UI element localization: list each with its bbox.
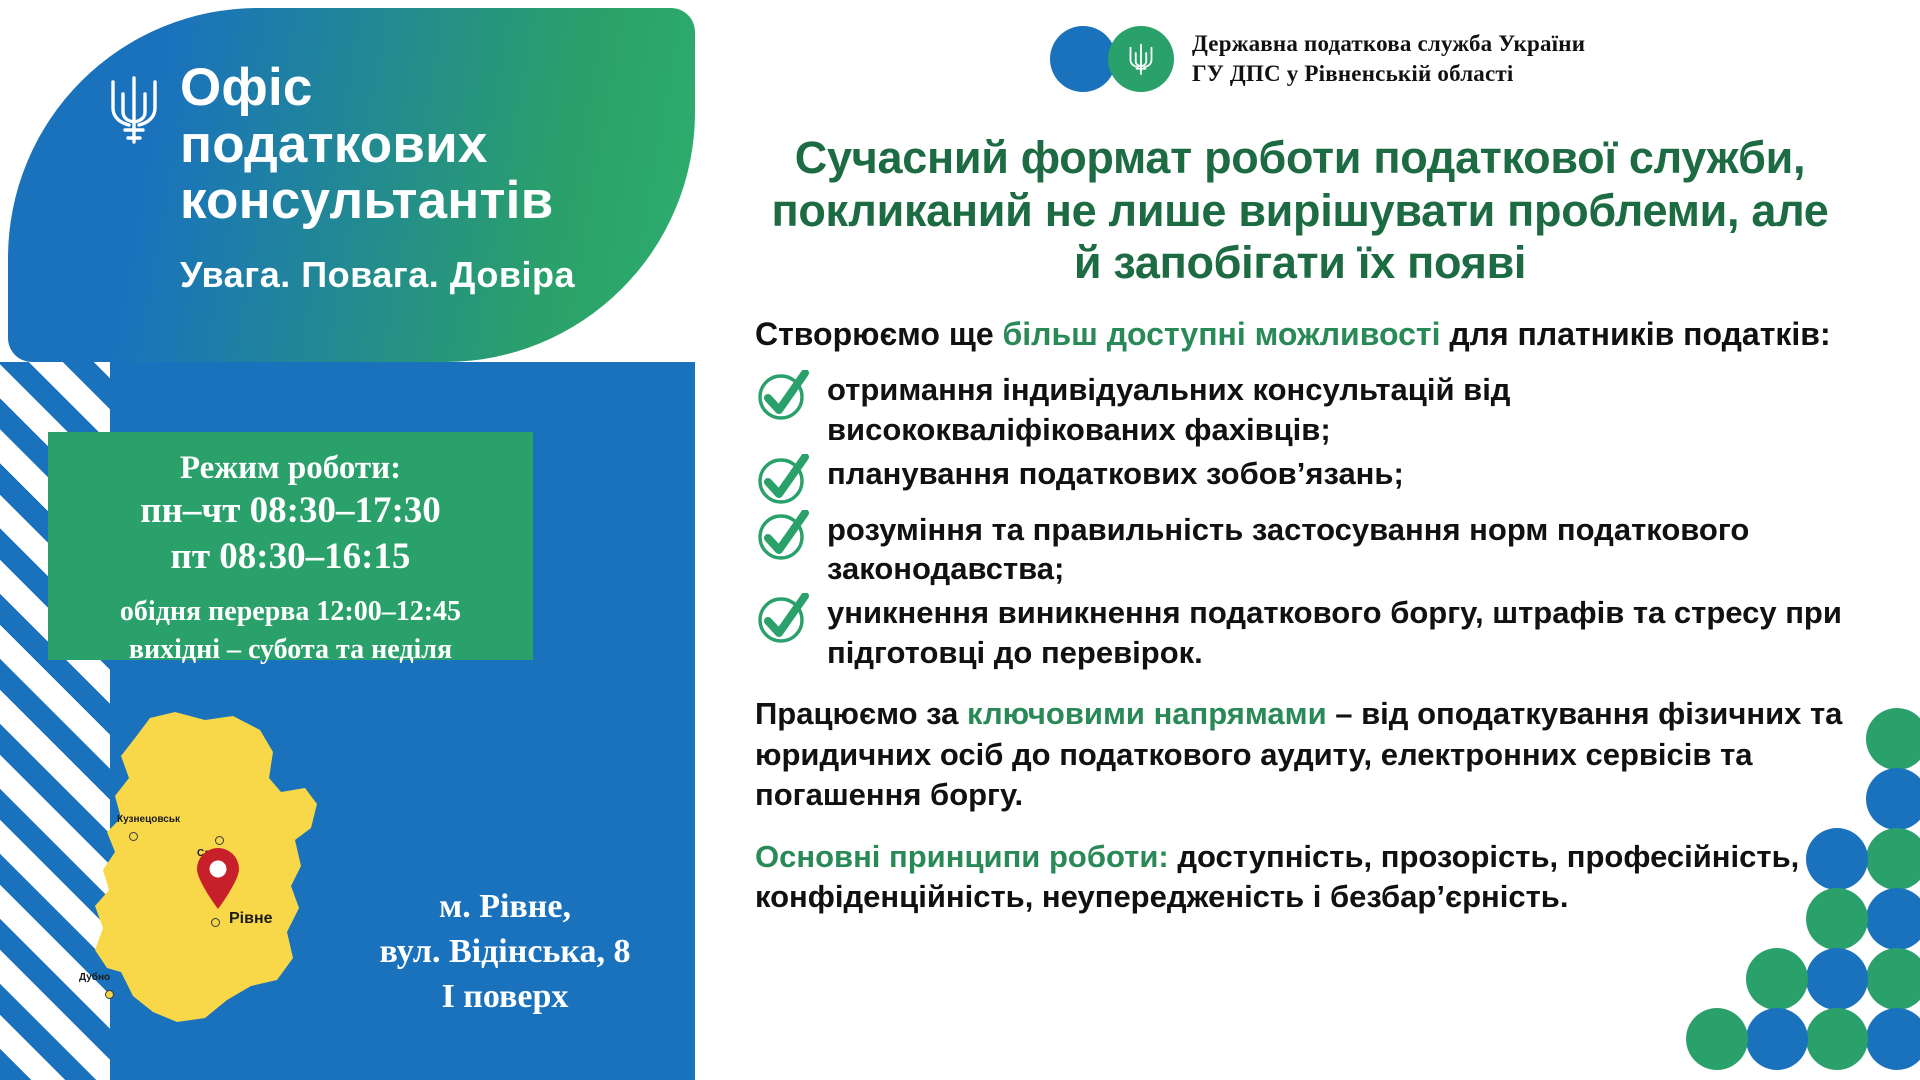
address-line-floor: І поверх [330,975,680,1020]
logo-title-line-2: податкових [180,117,553,174]
decor-dot [1866,768,1920,830]
schedule-lunch: обідня перерва 12:00–12:45 [48,594,533,630]
para2-highlight: Основні принципи роботи: [755,839,1169,874]
decor-dot [1866,708,1920,770]
page-title: Сучасний формат роботи податкової служби… [755,132,1845,290]
map-label-kuznetsovsk: Кузнецовськ [117,814,180,825]
decor-dot [1806,888,1868,950]
check-circle-icon [755,454,813,506]
brand-blue-circle-icon [1050,26,1116,92]
dot-grid-decoration [1710,700,1920,1080]
decor-dot [1806,948,1868,1010]
list-item: планування податкових зобов’язань; [755,452,1845,506]
map-city-dot [105,990,114,999]
brand-text-line-1: Державна податкова служба України [1192,29,1585,59]
address-line-city: м. Рівне, [330,885,680,930]
list-item-label: отримання індивідуальних консультацій ві… [827,368,1845,449]
intro-paragraph: Створюємо ще більш доступні можливості д… [755,314,1845,354]
decor-dot [1866,828,1920,890]
principles-paragraph: Основні принципи роботи: доступність, пр… [755,837,1845,918]
list-item: розуміння та правильність застосування н… [755,508,1845,589]
schedule-heading: Режим роботи: [48,448,533,488]
rivne-region-map: Кузнецовськ Сарни Рівне Дубно [55,700,365,1040]
benefits-list: отримання індивідуальних консультацій ві… [755,368,1845,672]
logo-slogan: Увага. Повага. Довіра [180,254,575,296]
brand-text-line-2: ГУ ДПС у Рівненській області [1192,59,1585,89]
decor-dot [1806,1008,1868,1070]
list-item: уникнення виникнення податкового боргу, … [755,591,1845,672]
schedule-weekend: вихідні – субота та неділя [48,632,533,668]
brand-header: Державна податкова служба України ГУ ДПС… [1050,24,1810,94]
schedule-friday: пт 08:30–16:15 [48,534,533,580]
office-logo-card: Офіс податкових консультантів Увага. Пов… [8,8,695,362]
decor-dot [1866,1008,1920,1070]
key-directions-paragraph: Працюємо за ключовими напрямами – від оп… [755,694,1845,815]
map-label-dubno: Дубно [79,972,110,983]
map-pin-icon [195,848,241,910]
list-item-label: розуміння та правильність застосування н… [827,508,1845,589]
decor-dot [1866,888,1920,950]
decor-dot [1746,1008,1808,1070]
trident-icon [103,68,165,146]
schedule-box: Режим роботи: пн–чт 08:30–17:30 пт 08:30… [48,432,533,660]
main-content: Сучасний формат роботи податкової служби… [755,132,1845,918]
map-city-dot [211,918,220,927]
check-circle-icon [755,370,813,422]
logo-title: Офіс податкових консультантів [180,60,553,230]
decor-dot [1806,828,1868,890]
para1-pre: Працюємо за [755,696,967,731]
check-circle-icon [755,510,813,562]
trident-icon [1126,41,1156,77]
map-city-dot [129,832,138,841]
list-item-label: уникнення виникнення податкового боргу, … [827,591,1845,672]
para1-highlight: ключовими напрямами [967,696,1327,731]
address-line-street: вул. Відінська, 8 [330,930,680,975]
list-item-label: планування податкових зобов’язань; [827,452,1404,494]
decor-dot [1746,948,1808,1010]
map-label-rivne: Рівне [229,910,273,928]
brand-green-circle-trident [1108,26,1174,92]
logo-title-line-3: консультантів [180,173,553,230]
decor-dot [1866,948,1920,1010]
intro-highlight: більш доступні можливості [1003,316,1441,352]
intro-pre: Створюємо ще [755,316,1003,352]
intro-post: для платників податків: [1440,316,1830,352]
brand-text: Державна податкова служба України ГУ ДПС… [1192,29,1585,89]
office-address: м. Рівне, вул. Відінська, 8 І поверх [330,885,680,1020]
schedule-mon-thu: пн–чт 08:30–17:30 [48,488,533,534]
check-circle-icon [755,593,813,645]
left-panel: Офіс податкових консультантів Увага. Пов… [0,0,695,1080]
logo-title-line-1: Офіс [180,60,553,117]
list-item: отримання індивідуальних консультацій ві… [755,368,1845,449]
decor-dot [1686,1008,1748,1070]
map-city-dot [215,836,224,845]
